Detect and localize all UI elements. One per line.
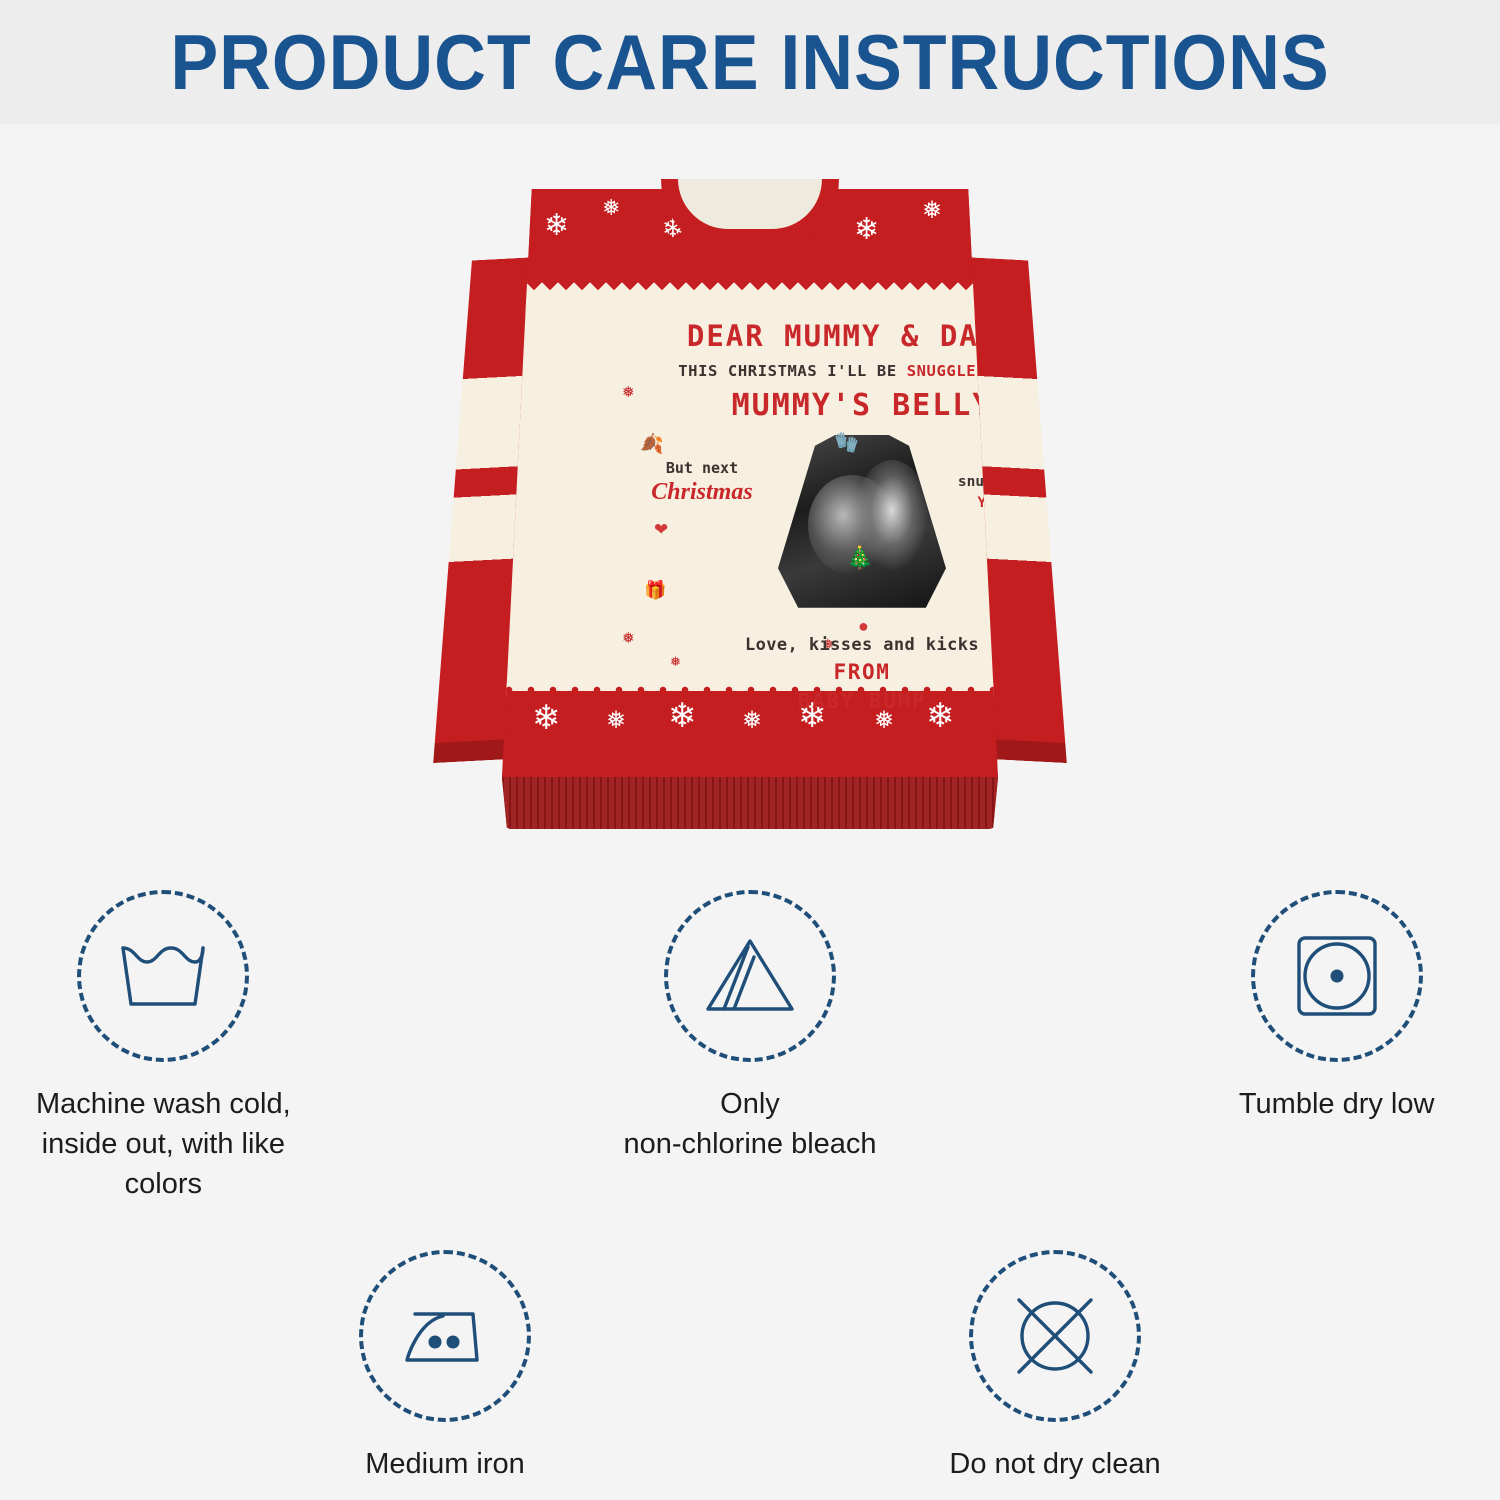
- design-baby-bump: BABY BUMP: [630, 689, 998, 713]
- care-item-bleach: Only non-chlorine bleach: [587, 890, 914, 1164]
- snowflake-icon: ❄: [854, 215, 879, 245]
- care-item-iron: Medium iron: [280, 1250, 610, 1484]
- design-line-2: THIS CHRISTMAS I'LL BE SNUGGLED UP IN: [630, 362, 998, 380]
- machine-wash-icon: [77, 890, 249, 1062]
- sweater-hem: [502, 777, 998, 829]
- design-left-text: But next Christmas: [632, 459, 772, 506]
- gift-icon: 🎁: [644, 581, 666, 599]
- care-label-bleach: Only non-chlorine bleach: [623, 1084, 876, 1164]
- sweater-torso: ❄ ❅ ❄ ❅ ❄ ❅ ❄ ❅ ❄ ❅ ❄ ❅ ❄ DEAR MUMMY & D…: [502, 189, 998, 829]
- product-image-area: ❄ ❅ ❄ ❅ ❄ ❅ ❄ ❅ ❄ ❅ ❄ ❅ ❄ DEAR MUMMY & D…: [0, 124, 1500, 884]
- design-line-1: DEAR MUMMY & DADDY: [630, 319, 998, 353]
- heart-icon: ❤: [654, 521, 668, 538]
- care-item-tumble-dry: Tumble dry low: [1173, 890, 1500, 1124]
- design-love-kisses: Love, kisses and kicks: [630, 635, 998, 655]
- design-bottom-block: Love, kisses and kicks FROM BABY BUMP: [630, 635, 998, 713]
- do-not-dry-clean-icon: [969, 1250, 1141, 1422]
- design-from: FROM: [630, 660, 998, 684]
- header-band: PRODUCT CARE INSTRUCTIONS: [0, 0, 1500, 124]
- sweater-product-image: ❄ ❅ ❄ ❅ ❄ ❅ ❄ ❅ ❄ ❅ ❄ ❅ ❄ DEAR MUMMY & D…: [390, 189, 1110, 849]
- christmas-tree-icon: 🎄: [846, 547, 873, 569]
- care-item-dry-clean: Do not dry clean: [890, 1250, 1220, 1484]
- care-label-iron: Medium iron: [365, 1444, 525, 1484]
- holly-icon: 🍂: [640, 435, 664, 454]
- care-label-machine-wash: Machine wash cold, inside out, with like…: [0, 1084, 327, 1204]
- design-but-next: But next: [632, 459, 772, 477]
- zigzag-band-top: [502, 281, 998, 301]
- tumble-dry-low-icon: [1251, 890, 1423, 1062]
- snowflake-icon: ❅: [602, 197, 620, 219]
- design-christmas: Christmas: [632, 479, 772, 506]
- hem-rib-texture: [502, 777, 998, 829]
- collar-opening: [678, 179, 822, 229]
- design-line-2-prefix: THIS CHRISTMAS I'LL BE: [678, 362, 906, 380]
- design-middle-row: But next Christmas I'll be snuggled up i…: [630, 435, 998, 625]
- snowflake-icon: ❄: [532, 701, 561, 735]
- care-row-2: Medium iron Do not dry clean: [0, 1250, 1500, 1484]
- ultrasound-photo: [778, 435, 946, 615]
- care-item-machine-wash: Machine wash cold, inside out, with like…: [0, 890, 327, 1204]
- non-chlorine-bleach-icon: [664, 890, 836, 1062]
- care-row-1: Machine wash cold, inside out, with like…: [0, 890, 1500, 1204]
- sweater-design-print: DEAR MUMMY & DADDY THIS CHRISTMAS I'LL B…: [630, 319, 998, 713]
- care-instructions-grid: Machine wash cold, inside out, with like…: [0, 890, 1500, 1484]
- snowflake-icon: ❅: [922, 199, 942, 223]
- care-label-tumble-dry: Tumble dry low: [1239, 1084, 1435, 1124]
- page-title: PRODUCT CARE INSTRUCTIONS: [170, 23, 1329, 101]
- snowflake-icon: ❄: [544, 211, 569, 241]
- ornament-icon: ●: [858, 617, 869, 635]
- design-line-3: MUMMY'S BELLY: [630, 388, 998, 423]
- mitten-icon: 🧤: [834, 433, 859, 453]
- care-label-dry-clean: Do not dry clean: [949, 1444, 1160, 1484]
- medium-iron-icon: [359, 1250, 531, 1422]
- snowflake-icon: ❅: [606, 709, 626, 733]
